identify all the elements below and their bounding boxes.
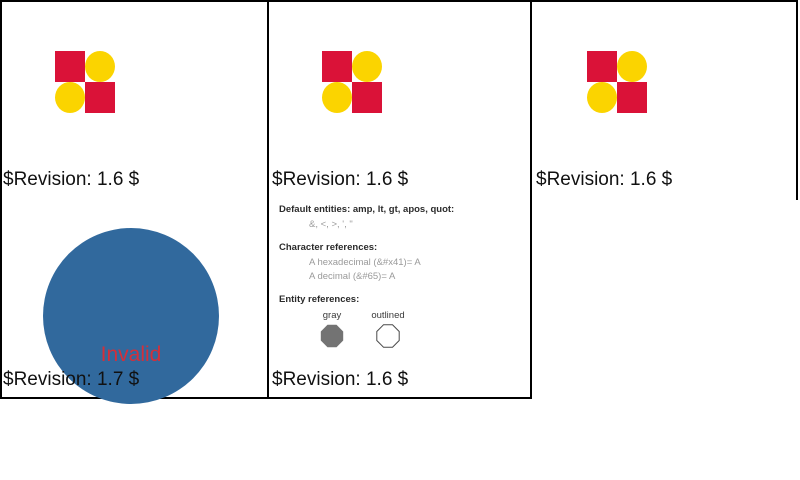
revision-text-left-top: $Revision: 1.6 $ (3, 169, 139, 191)
octagon-outlined-caption: outlined (357, 310, 419, 322)
octagon-gray-caption: gray (301, 310, 363, 322)
revision-text-left-bottom: $Revision: 1.7 $ (3, 369, 139, 391)
svg-logo-middle (322, 51, 382, 113)
logo-square-top-left (587, 51, 617, 82)
spacer (279, 232, 519, 241)
logo-circle-bottom-left (322, 82, 352, 113)
logo-square-top-left (55, 51, 85, 82)
svg-logo-left (55, 51, 115, 113)
logo-square-bottom-right (352, 82, 382, 113)
entity-references-heading: Entity references: (279, 293, 519, 306)
revision-text-right-top: $Revision: 1.6 $ (536, 169, 672, 191)
octagon-gray-icon (320, 324, 344, 348)
entity-reference-item-outlined: outlined (357, 310, 419, 348)
logo-circle-top-right (85, 51, 115, 82)
logo-circle-top-right (617, 51, 647, 82)
default-entities-values: &, <, >, ', " (279, 218, 519, 231)
character-reference-decimal: A decimal (&#65)= A (279, 270, 519, 283)
character-references-heading: Character references: (279, 241, 519, 254)
logo-circle-bottom-left (587, 82, 617, 113)
character-reference-hexadecimal: A hexadecimal (&#x41)= A (279, 256, 519, 269)
default-entities-heading: Default entities: amp, lt, gt, apos, quo… (279, 203, 519, 216)
revision-text-middle-top: $Revision: 1.6 $ (272, 169, 408, 191)
entity-reference-block: Default entities: amp, lt, gt, apos, quo… (279, 203, 519, 358)
logo-circle-top-right (352, 51, 382, 82)
logo-square-bottom-right (85, 82, 115, 113)
logo-circle-bottom-left (55, 82, 85, 113)
logo-square-top-left (322, 51, 352, 82)
svg-logo-right (587, 51, 647, 113)
entity-reference-shapes-row: gray outlined (279, 310, 519, 358)
spacer (279, 284, 519, 293)
revision-text-middle-bottom: $Revision: 1.6 $ (272, 369, 408, 391)
entity-reference-item-gray: gray (301, 310, 363, 348)
octagon-outlined-icon (376, 324, 400, 348)
logo-square-bottom-right (617, 82, 647, 113)
